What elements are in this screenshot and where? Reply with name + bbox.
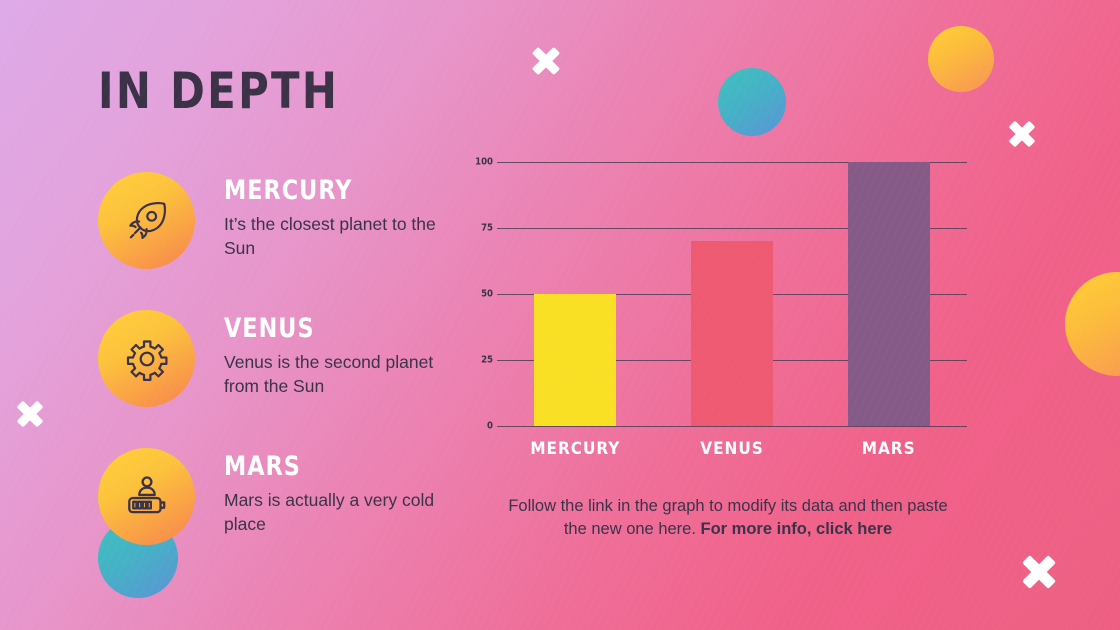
rocket-icon-bubble [98, 172, 195, 269]
chart-bar-mercury[interactable] [534, 294, 616, 426]
page-title: IN DEPTH [98, 62, 339, 120]
list-item-text: MARS Mars is actually a very cold place [195, 448, 456, 537]
battery-person-icon [122, 472, 172, 522]
list-item-title: MARS [224, 453, 437, 481]
list-item-desc: Venus is the second planet from the Sun [224, 350, 456, 398]
caption-link[interactable]: For more info, click here [701, 520, 893, 538]
chart-bar-venus[interactable] [691, 241, 773, 426]
chart-x-axis-labels: MERCURYVENUSMARS [497, 439, 967, 459]
chart-y-tick-label: 25 [467, 355, 493, 366]
battery-person-icon-bubble [98, 448, 195, 545]
chart-y-tick-label: 75 [467, 223, 493, 234]
circle-teal-top [718, 68, 786, 136]
chart-gridline [497, 426, 967, 427]
chart-plot-area: 0255075100 [497, 162, 967, 426]
slide-in-depth: IN DEPTH [0, 0, 1120, 630]
list-item-desc: Mars is actually a very cold place [224, 488, 456, 536]
chart-bars [497, 162, 967, 426]
chart-y-tick-label: 0 [467, 421, 493, 432]
list-item-text: VENUS Venus is the second planet from th… [195, 310, 456, 399]
chart-x-label-mercury: MERCURY [497, 439, 654, 459]
gear-icon [123, 335, 171, 383]
chart-bar-slot [810, 162, 967, 426]
rocket-icon [122, 196, 172, 246]
chart-bar-slot [654, 162, 811, 426]
chart-y-tick-label: 50 [467, 289, 493, 300]
list-item-mercury[interactable]: MERCURY It’s the closest planet to the S… [98, 172, 468, 310]
list-item-mars[interactable]: MARS Mars is actually a very cold place [98, 448, 468, 586]
list-item-title: MERCURY [224, 177, 437, 205]
gear-icon-bubble [98, 310, 195, 407]
bar-chart[interactable]: 0255075100 MERCURYVENUSMARS [497, 162, 967, 459]
circle-orange-right-edge [1065, 272, 1120, 376]
chart-x-label-venus: VENUS [654, 439, 811, 459]
list-item-title: VENUS [224, 315, 437, 343]
feature-list: MERCURY It’s the closest planet to the S… [98, 172, 468, 586]
chart-bar-slot [497, 162, 654, 426]
list-item-text: MERCURY It’s the closest planet to the S… [195, 172, 456, 261]
list-item-desc: It’s the closest planet to the Sun [224, 212, 456, 260]
list-item-venus[interactable]: VENUS Venus is the second planet from th… [98, 310, 468, 448]
chart-bar-mars[interactable] [848, 162, 930, 426]
circle-orange-top-right [928, 26, 994, 92]
chart-y-tick-label: 100 [467, 157, 493, 168]
chart-caption: Follow the link in the graph to modify i… [497, 495, 959, 542]
chart-x-label-mars: MARS [810, 439, 967, 459]
cross-bottom-right [1040, 560, 1074, 594]
cross-top-left-chart [546, 50, 576, 80]
cross-top-right [1022, 124, 1050, 152]
left-column: IN DEPTH [0, 0, 470, 630]
